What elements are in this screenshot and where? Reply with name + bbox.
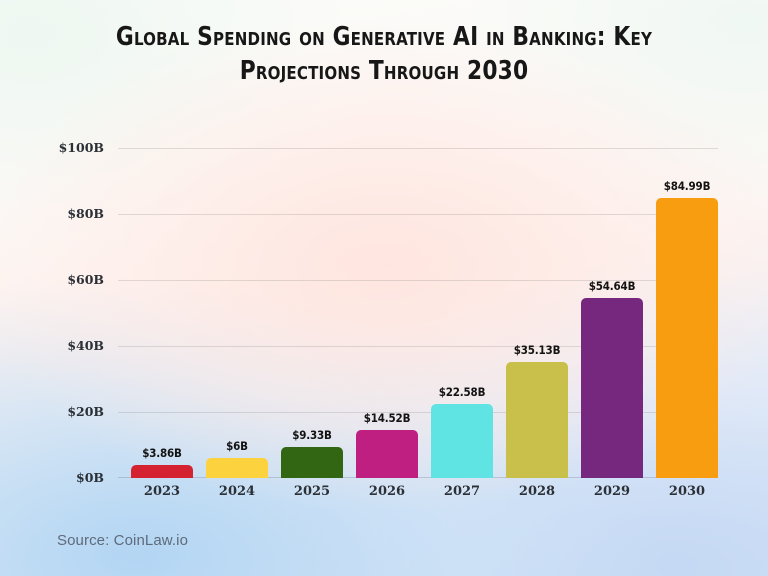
x-axis-tick-label: 2024 [206, 484, 268, 499]
bar-2026[interactable] [356, 430, 418, 478]
x-axis-tick-label: 2023 [131, 484, 193, 499]
bar-2030[interactable] [656, 198, 718, 478]
source-note: Source: CoinLaw.io [57, 532, 188, 549]
x-axis-tick-label: 2025 [281, 484, 343, 499]
bar-2025[interactable] [281, 447, 343, 478]
y-axis-tick-label: $60B [0, 272, 104, 287]
bar-value-label: $9.33B [284, 428, 340, 442]
chart-plot: $0B$20B$40B$60B$80B$100B $3.86B$6B$9.33B… [0, 0, 768, 576]
bar-group[interactable]: $54.64B [581, 148, 643, 478]
bar-group[interactable]: $9.33B [281, 148, 343, 478]
y-axis-tick-label: $0B [0, 470, 104, 485]
bar-2023[interactable] [131, 465, 193, 478]
y-axis-tick-label: $80B [0, 206, 104, 221]
bar-group[interactable]: $22.58B [431, 148, 493, 478]
bar-value-label: $14.52B [359, 411, 415, 425]
bar-value-label: $54.64B [584, 279, 640, 293]
x-axis-tick-label: 2028 [506, 484, 568, 499]
y-axis-tick-label: $40B [0, 338, 104, 353]
bar-value-label: $3.86B [134, 446, 190, 460]
bar-value-label: $6B [209, 439, 265, 453]
bar-2029[interactable] [581, 298, 643, 478]
bar-value-label: $22.58B [434, 385, 490, 399]
bar-2027[interactable] [431, 404, 493, 479]
bar-2028[interactable] [506, 362, 568, 478]
bar-group[interactable]: $6B [206, 148, 268, 478]
bar-group[interactable]: $14.52B [356, 148, 418, 478]
bar-value-label: $35.13B [509, 343, 565, 357]
x-axis-tick-label: 2030 [656, 484, 718, 499]
infographic-canvas: Global Spending on Generative AI in Bank… [0, 0, 768, 576]
bar-group[interactable]: $35.13B [506, 148, 568, 478]
x-axis-tick-label: 2027 [431, 484, 493, 499]
y-axis-tick-label: $20B [0, 404, 104, 419]
y-axis-tick-label: $100B [0, 140, 104, 155]
bars-layer: $3.86B$6B$9.33B$14.52B$22.58B$35.13B$54.… [118, 148, 718, 478]
bar-group[interactable]: $3.86B [131, 148, 193, 478]
bar-2024[interactable] [206, 458, 268, 478]
bar-group[interactable]: $84.99B [656, 148, 718, 478]
bar-value-label: $84.99B [659, 179, 715, 193]
x-axis-tick-label: 2026 [356, 484, 418, 499]
x-axis-tick-label: 2029 [581, 484, 643, 499]
